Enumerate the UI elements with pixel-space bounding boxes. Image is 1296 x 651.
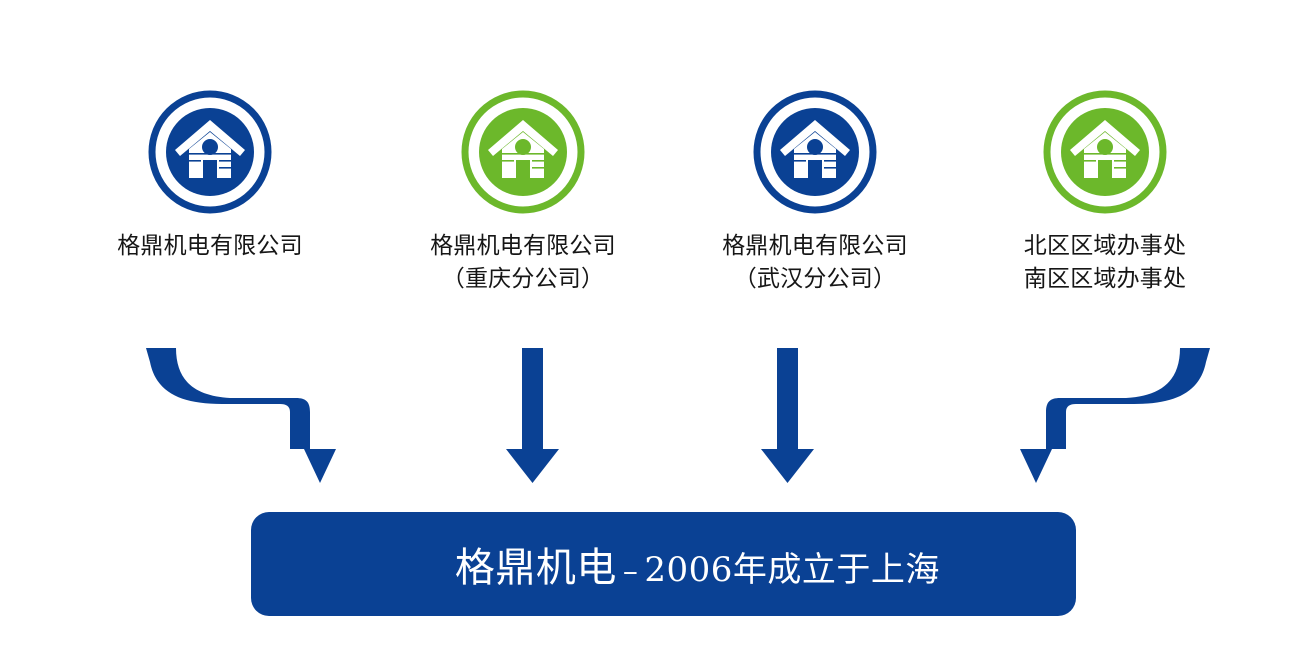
banner-company: 格鼎机电 bbox=[455, 545, 617, 591]
node-label: 格鼎机电有限公司 （重庆分公司） bbox=[430, 230, 616, 295]
arrow-straight-down-wuhan bbox=[761, 348, 814, 483]
home-circle-icon bbox=[753, 90, 877, 214]
home-circle-icon bbox=[148, 90, 272, 214]
node-label: 格鼎机电有限公司 bbox=[117, 230, 303, 263]
node-hq[interactable]: 格鼎机电有限公司 bbox=[100, 90, 320, 263]
diagram-canvas: 格鼎机电有限公司 格鼎机电有限公司 （重庆分公司） bbox=[0, 0, 1296, 651]
banner-separator: – bbox=[617, 554, 645, 589]
node-wuhan[interactable]: 格鼎机电有限公司 （武汉分公司） bbox=[705, 90, 925, 295]
home-circle-icon bbox=[461, 90, 585, 214]
node-label: 格鼎机电有限公司 （武汉分公司） bbox=[722, 230, 908, 295]
node-chongqing[interactable]: 格鼎机电有限公司 （重庆分公司） bbox=[413, 90, 633, 295]
company-banner[interactable]: 格鼎机电–2006年成立于上海 bbox=[251, 512, 1076, 616]
home-circle-icon bbox=[1043, 90, 1167, 214]
banner-text: 格鼎机电–2006年成立于上海 bbox=[387, 495, 940, 633]
node-label: 北区区域办事处 南区区域办事处 bbox=[1024, 230, 1186, 295]
banner-tagline: 2006年成立于上海 bbox=[644, 550, 940, 590]
arrow-elbow-left-to-down bbox=[146, 348, 336, 483]
node-regional-offices[interactable]: 北区区域办事处 南区区域办事处 bbox=[1010, 90, 1200, 295]
arrow-straight-down-chongqing bbox=[506, 348, 559, 483]
arrow-elbow-right-to-down bbox=[1020, 348, 1210, 483]
